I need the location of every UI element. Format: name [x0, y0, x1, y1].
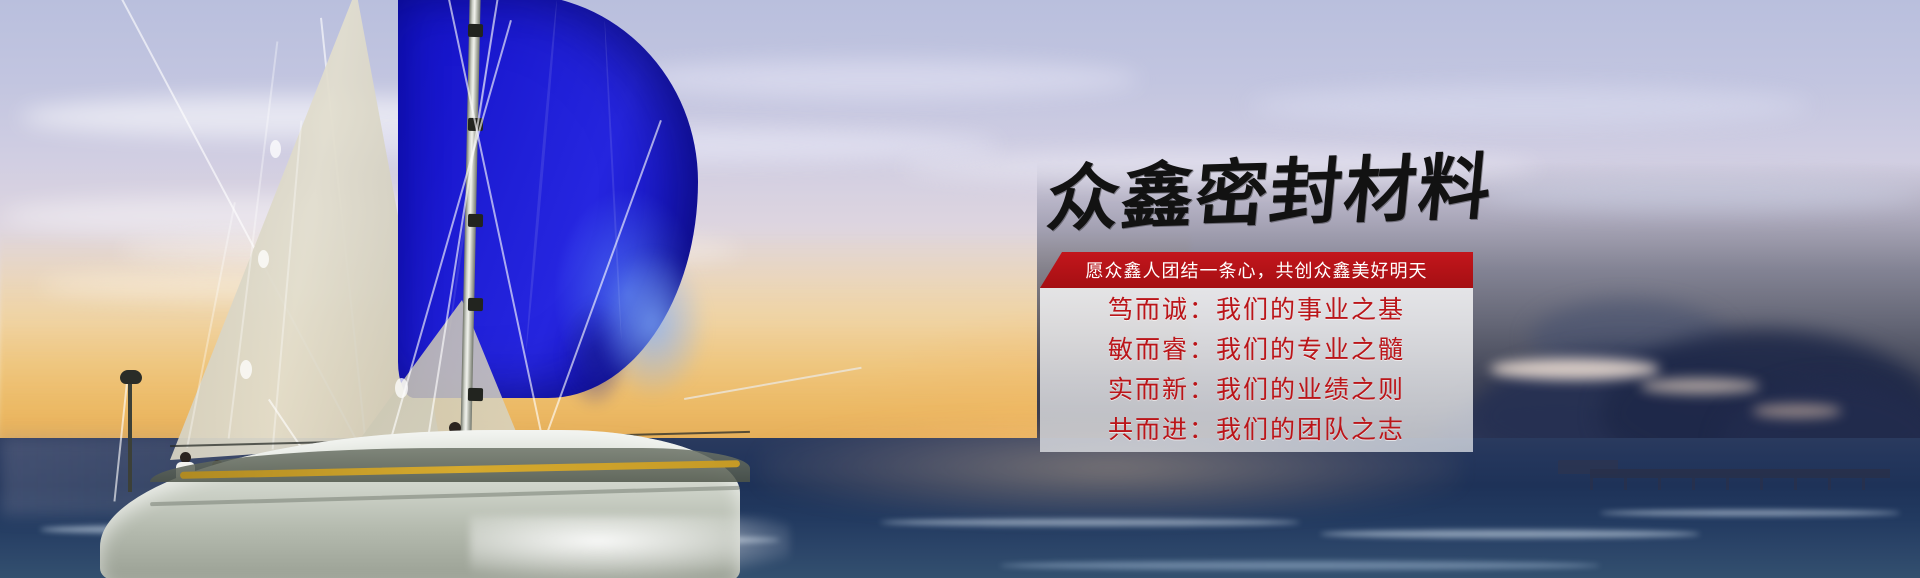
tagline-bar: 愿众鑫人团结一条心，共创众鑫美好明天	[1040, 252, 1473, 288]
sail-window	[240, 360, 252, 379]
creed-line: 共而进：我们的团队之志	[1108, 412, 1405, 449]
mast-fitting	[468, 298, 483, 311]
creed-line: 实而新：我们的业绩之则	[1108, 372, 1405, 409]
mast-fitting	[468, 24, 483, 37]
sailboat	[0, 0, 760, 578]
creed-line: 敏而睿：我们的专业之髓	[1108, 332, 1405, 369]
stern-pole	[128, 382, 132, 492]
mast-fitting	[468, 214, 483, 227]
hero-banner: 众鑫密封材料 愿众鑫人团结一条心，共创众鑫美好明天 笃而诚：我们的事业之基 敏而…	[0, 0, 1920, 578]
wave-crest	[1320, 530, 1700, 538]
rigging-line	[113, 382, 127, 501]
cloud-highlight	[1490, 358, 1660, 380]
sail-window	[258, 250, 269, 268]
brand-text-block: 众鑫密封材料 愿众鑫人团结一条心，共创众鑫美好明天 笃而诚：我们的事业之基 敏而…	[1030, 130, 1480, 460]
wave-crest	[1000, 561, 1600, 570]
sail-highlight	[598, 250, 708, 400]
wind-instrument	[120, 370, 142, 384]
bow-spray	[470, 516, 790, 578]
distant-pier	[1590, 469, 1890, 478]
mast-fitting	[468, 388, 483, 401]
wave-crest	[1600, 510, 1900, 516]
sail-window	[270, 140, 281, 158]
tagline-text: 愿众鑫人团结一条心，共创众鑫美好明天	[1086, 257, 1428, 283]
wave-crest	[880, 519, 1300, 526]
brand-title: 众鑫密封材料	[1043, 144, 1492, 242]
cloud-highlight	[1752, 404, 1842, 418]
creed-line: 笃而诚：我们的事业之基	[1108, 292, 1405, 329]
cloud-highlight	[1640, 378, 1760, 394]
creed-list: 笃而诚：我们的事业之基 敏而睿：我们的专业之髓 实而新：我们的业绩之则 共而进：…	[1040, 288, 1473, 452]
creed-panel: 笃而诚：我们的事业之基 敏而睿：我们的专业之髓 实而新：我们的业绩之则 共而进：…	[1040, 288, 1473, 452]
